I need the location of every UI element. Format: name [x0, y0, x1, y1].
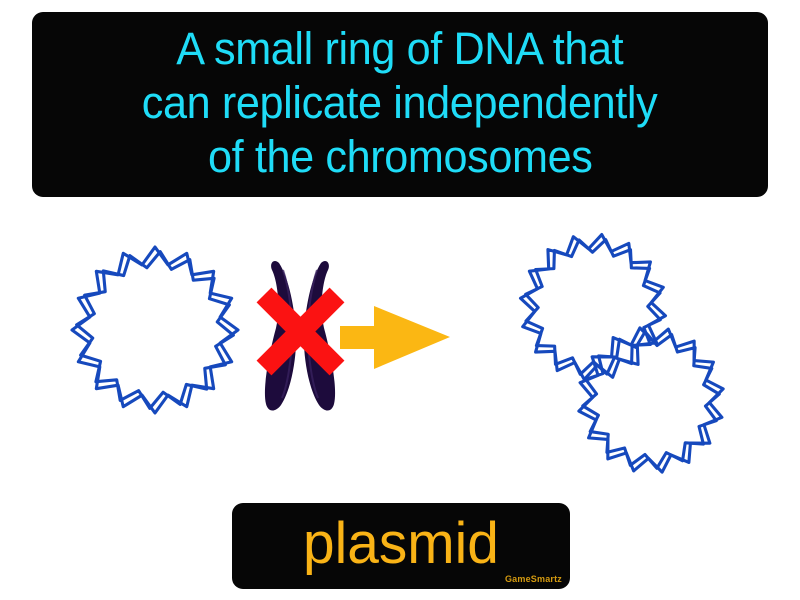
- red-cross-icon: [264, 295, 337, 368]
- definition-line-2: can replicate independently: [142, 76, 658, 130]
- term-label: plasmid: [303, 514, 499, 574]
- definition-line-1: A small ring of DNA that: [176, 22, 623, 76]
- plasmid-replication-diagram: [0, 200, 800, 500]
- gamesmartz-watermark: GameSmartz: [505, 574, 562, 584]
- plasmid-right-bottom-icon: [579, 328, 723, 472]
- plasmid-left-icon: [72, 247, 238, 413]
- flashcard-canvas: A small ring of DNA that can replicate i…: [0, 0, 800, 600]
- definition-banner: A small ring of DNA that can replicate i…: [32, 12, 768, 197]
- right-arrow-icon: [340, 306, 450, 369]
- definition-line-3: of the chromosomes: [208, 130, 592, 184]
- term-banner: plasmid GameSmartz: [232, 503, 570, 589]
